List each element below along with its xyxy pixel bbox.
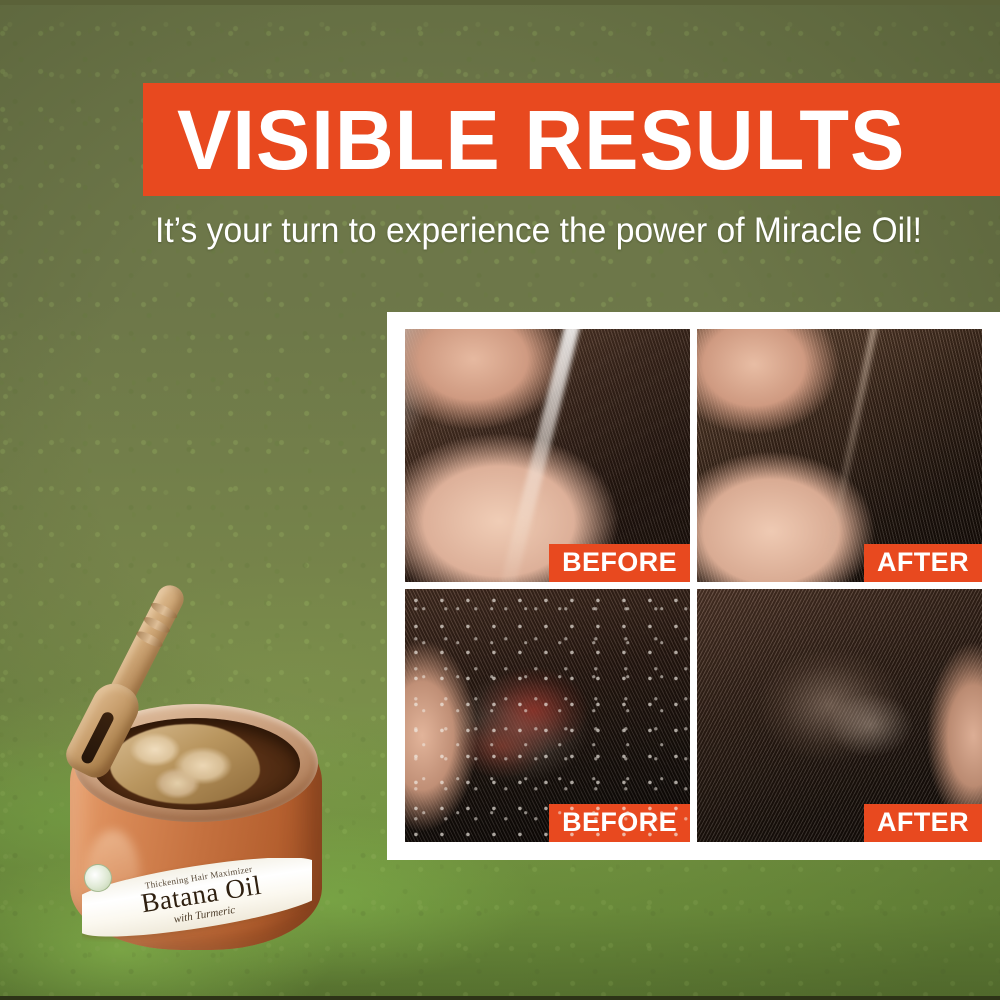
subtitle-text: It’s your turn to experience the power o…	[155, 208, 966, 254]
status-badge-after-top: AFTER	[864, 544, 982, 582]
headline-banner: VISIBLE RESULTS	[143, 83, 1000, 196]
result-photo-before-bottom: BEFORE	[405, 589, 690, 842]
results-grid: BEFORE AFTER BEFORE AFTER	[405, 329, 982, 842]
status-badge-before-bottom: BEFORE	[549, 804, 690, 842]
result-photo-after-top: AFTER	[697, 329, 982, 582]
advertisement-canvas: VISIBLE RESULTS It’s your turn to experi…	[0, 0, 1000, 1000]
jar-product-paste	[110, 724, 260, 804]
result-photo-after-bottom: AFTER	[697, 589, 982, 842]
status-badge-after-bottom: AFTER	[864, 804, 982, 842]
results-grid-frame: BEFORE AFTER BEFORE AFTER	[387, 312, 1000, 860]
headline-text: VISIBLE RESULTS	[177, 98, 905, 182]
status-badge-before-top: BEFORE	[549, 544, 690, 582]
bottom-edge-strip	[0, 996, 1000, 1000]
jar-label: Thickening Hair Maximizer Batana Oil wit…	[82, 858, 312, 942]
jar-label-text: Thickening Hair Maximizer Batana Oil wit…	[82, 858, 312, 942]
top-edge-strip	[0, 0, 1000, 5]
result-photo-before-top: BEFORE	[405, 329, 690, 582]
product-jar: Thickening Hair Maximizer Batana Oil wit…	[62, 690, 330, 960]
